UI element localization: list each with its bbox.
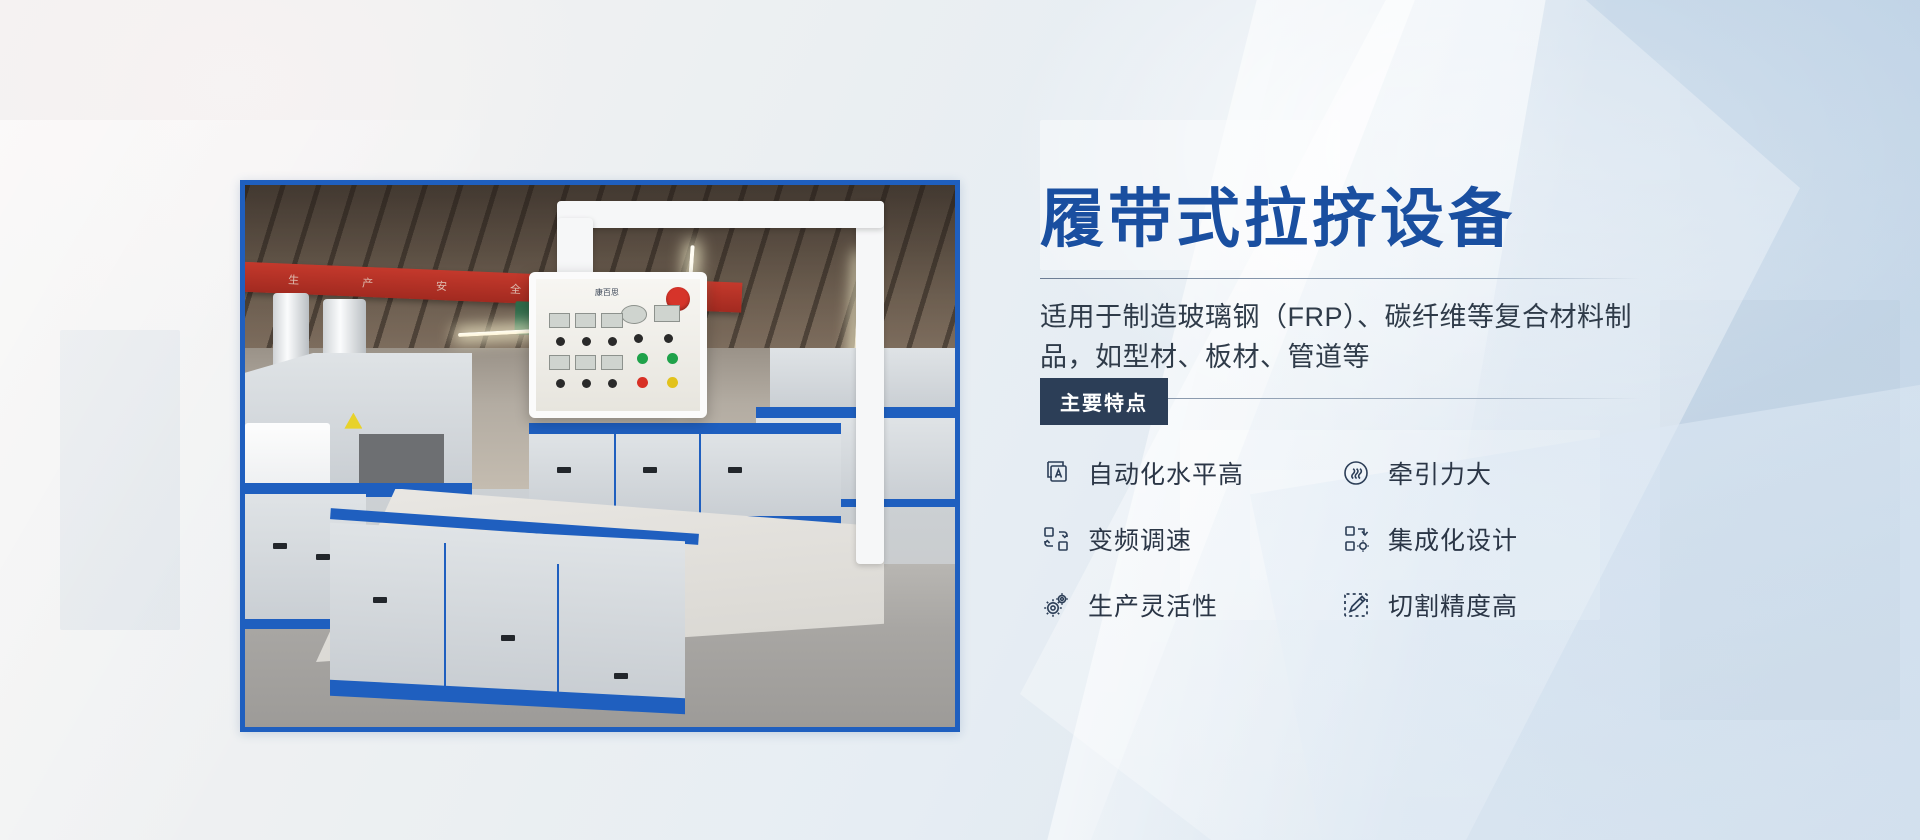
feature-item[interactable]: 生产灵活性 <box>1040 587 1340 623</box>
cabinet-handle <box>273 543 287 549</box>
cabinet-handle <box>316 554 330 560</box>
digital-display <box>549 313 570 328</box>
cutting-precision-icon <box>1340 589 1372 621</box>
cabinet-handle <box>728 467 742 473</box>
feature-label: 自动化水平高 <box>1088 455 1244 491</box>
digital-display <box>601 313 622 328</box>
gantry-beam <box>557 201 884 228</box>
feature-list: 自动化水平高 牵引力大 <box>1040 455 1680 623</box>
feature-item[interactable]: 自动化水平高 <box>1040 455 1340 491</box>
control-knob[interactable] <box>634 334 643 343</box>
gears-flexibility-icon <box>1040 589 1072 621</box>
page-title: 履带式拉挤设备 <box>1040 186 1680 254</box>
cabinet-divider <box>699 434 701 521</box>
control-knob[interactable] <box>664 334 673 343</box>
conveyor-cabinet <box>330 523 685 704</box>
traction-force-icon <box>1340 457 1372 489</box>
digital-display <box>549 355 570 370</box>
feature-label: 生产灵活性 <box>1088 587 1218 623</box>
control-panel-brand: 康百思 <box>595 287 619 298</box>
control-knob[interactable] <box>582 337 591 346</box>
feature-item[interactable]: 切割精度高 <box>1340 587 1640 623</box>
automation-a-icon <box>1040 457 1072 489</box>
product-photo: 生 产 安 全 <box>245 185 955 727</box>
feature-item[interactable]: 牵引力大 <box>1340 455 1640 491</box>
integrated-design-icon <box>1340 523 1372 555</box>
indicator-light-green <box>667 353 678 364</box>
digital-display <box>601 355 622 370</box>
cabinet-handle <box>501 635 515 641</box>
feature-label: 牵引力大 <box>1388 455 1492 491</box>
control-knob[interactable] <box>608 337 617 346</box>
frequency-speed-icon <box>1040 523 1072 555</box>
cabinet-handle <box>614 673 628 679</box>
control-knob[interactable] <box>582 379 591 388</box>
features-divider: 主要特点 <box>1040 398 1640 399</box>
feature-label: 集成化设计 <box>1388 521 1518 557</box>
feature-item[interactable]: 变频调速 <box>1040 521 1340 557</box>
cabinet-handle <box>643 467 657 473</box>
analog-gauge <box>621 305 647 324</box>
product-banner: 生 产 安 全 <box>0 0 1920 840</box>
indicator-light-yellow <box>667 377 678 388</box>
page-subtitle: 适用于制造玻璃钢（FRP）、碳纤维等复合材料制品，如型材、板材、管道等 <box>1040 297 1680 378</box>
title-divider <box>1040 278 1640 279</box>
machine-cabinet-trim <box>529 423 841 434</box>
product-photo-frame[interactable]: 生 产 安 全 <box>240 180 960 732</box>
control-knob[interactable] <box>608 379 617 388</box>
control-knob[interactable] <box>556 379 565 388</box>
indicator-light-green <box>637 353 648 364</box>
feature-label: 变频调速 <box>1088 521 1192 557</box>
digital-display <box>575 313 596 328</box>
gantry-column <box>856 201 884 564</box>
control-knob[interactable] <box>556 337 565 346</box>
cabinet-handle <box>557 467 571 473</box>
feature-label: 切割精度高 <box>1388 587 1518 623</box>
banner-content: 履带式拉挤设备 适用于制造玻璃钢（FRP）、碳纤维等复合材料制品，如型材、板材、… <box>1040 186 1680 623</box>
control-panel[interactable]: 康百思 <box>529 272 707 418</box>
cabinet-divider <box>444 543 446 695</box>
status-badge: 主要特点 <box>1040 378 1168 425</box>
feature-item[interactable]: 集成化设计 <box>1340 521 1640 557</box>
digital-display <box>575 355 596 370</box>
digital-display <box>654 305 680 322</box>
cabinet-handle <box>373 597 387 603</box>
indicator-light-red <box>637 377 648 388</box>
